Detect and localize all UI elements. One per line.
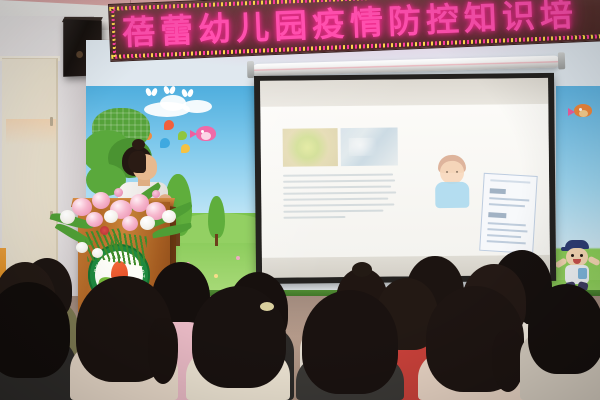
bouquet-bud bbox=[152, 190, 160, 198]
led-dot-border-left bbox=[111, 7, 116, 59]
mural-orange-bird-icon bbox=[574, 104, 592, 117]
boy-eye bbox=[571, 254, 574, 257]
mural-sprout-icon bbox=[182, 89, 193, 101]
bouquet-bud bbox=[114, 188, 123, 197]
mural-sprout-icon bbox=[164, 86, 175, 98]
slide-child-illustration bbox=[431, 155, 474, 213]
presenter-hair-bun bbox=[132, 139, 145, 150]
bird-eye bbox=[201, 130, 204, 133]
mural-leaf-dot bbox=[178, 131, 187, 140]
audience-hair-bun bbox=[352, 262, 372, 277]
slide-text-block bbox=[283, 173, 399, 224]
mural-pink-bird-icon bbox=[196, 126, 216, 141]
audience-ponytail bbox=[148, 318, 178, 384]
child-shirt bbox=[435, 182, 469, 208]
boy-eye bbox=[580, 254, 583, 257]
mural-sprout-icon bbox=[146, 88, 157, 100]
bouquet-rose bbox=[140, 216, 155, 230]
bird-belly bbox=[201, 132, 211, 140]
mural-flower bbox=[236, 256, 240, 260]
bouquet-bud bbox=[100, 226, 109, 235]
bouquet-rose bbox=[60, 210, 75, 224]
audience-hair bbox=[528, 284, 600, 374]
audience-hair-clip bbox=[260, 302, 274, 311]
screen-surface bbox=[260, 78, 550, 278]
mural-leaf-dot bbox=[181, 144, 190, 153]
mural-flower bbox=[214, 274, 218, 278]
speaker-cone-icon bbox=[76, 51, 83, 58]
screen-top-band bbox=[260, 78, 548, 107]
bouquet-lily bbox=[122, 216, 138, 231]
roller-bracket bbox=[558, 52, 565, 69]
boy-arm bbox=[587, 256, 600, 267]
door-hinge-icon bbox=[50, 117, 53, 126]
flower-arrangement bbox=[52, 186, 192, 268]
mural-cloud bbox=[182, 100, 212, 113]
slide-map-image bbox=[341, 127, 398, 166]
bouquet-rose bbox=[104, 210, 118, 223]
bird-belly bbox=[579, 110, 588, 117]
bouquet-lily bbox=[92, 192, 110, 209]
photo-scene: 蓓蕾幼儿园疫情防控知识培 bbox=[0, 0, 600, 400]
presenter-hair-front bbox=[128, 151, 146, 173]
bouquet-palm-frond bbox=[108, 232, 148, 267]
bouquet-rose bbox=[76, 242, 88, 253]
bouquet-rose bbox=[162, 210, 176, 223]
door-light-glow bbox=[6, 119, 56, 145]
child-face bbox=[440, 161, 464, 184]
bouquet-lily bbox=[86, 212, 103, 227]
mural-tree-trunk bbox=[215, 234, 218, 246]
bouquet-rose bbox=[92, 248, 103, 258]
slide-health-form bbox=[479, 173, 538, 254]
bird-eye bbox=[579, 108, 582, 111]
audience-hair bbox=[302, 290, 398, 394]
slide-virus-image bbox=[283, 128, 338, 167]
mural-cone-tree bbox=[208, 196, 225, 238]
boy-badge-icon bbox=[578, 268, 587, 279]
presentation-slide bbox=[260, 104, 550, 258]
audience-hair bbox=[192, 286, 286, 388]
mural-leaf-dot bbox=[164, 120, 174, 130]
door[interactable] bbox=[2, 58, 58, 290]
